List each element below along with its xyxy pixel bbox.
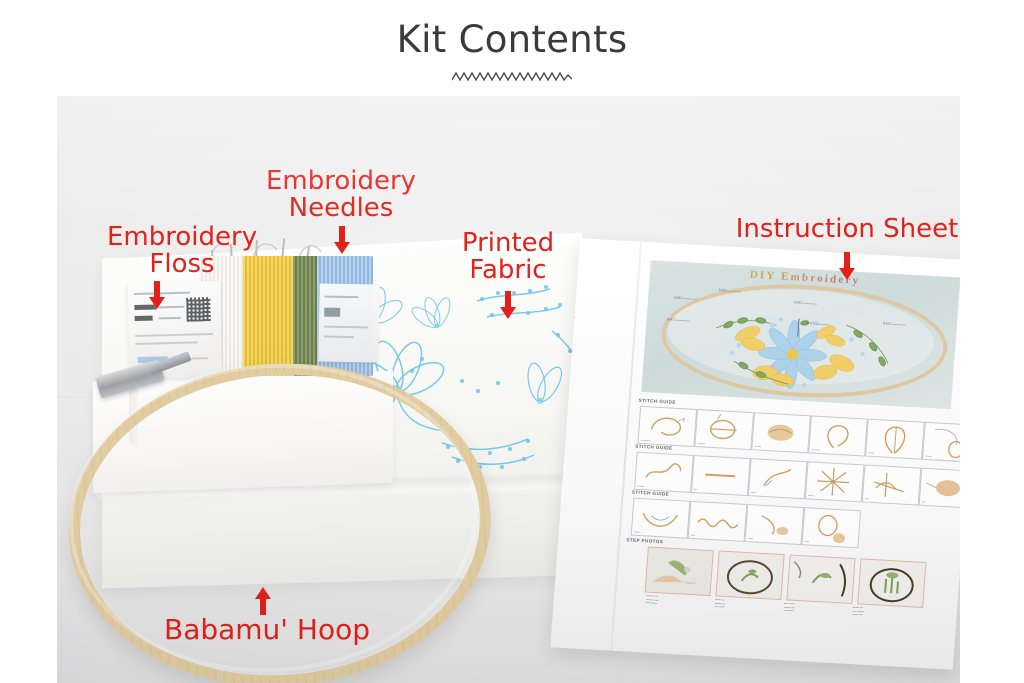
stitch-cell: •••••• — [634, 452, 694, 493]
stitch-caption: •••• — [805, 540, 810, 543]
stitch-cell: •••••• — [751, 412, 811, 453]
step-photo — [857, 558, 926, 608]
stitch-caption: •••• — [691, 534, 696, 537]
stitch-cell: ••••••••• — [637, 406, 697, 447]
stitch-caption: •••• — [865, 498, 870, 501]
step-photo — [715, 550, 784, 600]
sheet-annotation: DMC — [794, 300, 803, 304]
label-line — [159, 317, 181, 320]
stitch-cell: ••••• — [745, 504, 805, 545]
stitch-caption: ••••••••• — [641, 439, 651, 443]
page-header: Kit Contents — [0, 0, 1024, 96]
stitch-cell: ••••• — [748, 458, 808, 499]
zigzag-squiggle-divider-icon — [452, 68, 572, 86]
sheet-annotation: DMC — [674, 296, 683, 300]
sheet-annotation: DMC — [807, 321, 816, 325]
sheet-annotation: DMC — [883, 321, 892, 325]
label-block — [135, 316, 153, 321]
label-line — [135, 341, 197, 345]
sheet-section-label: STITCH GUIDE — [632, 490, 670, 497]
stitch-cell: ••• — [691, 455, 751, 496]
callout-babamu-hoop: Babamu' Hoop — [137, 616, 397, 645]
step-photo-caption: •••••• •••••• •••••••••••• •••• — [852, 606, 915, 620]
stitch-cell: ••• — [919, 468, 960, 509]
sheet-hero-image: DIY Embroidery — [641, 260, 960, 409]
stitch-cell: •••• — [688, 501, 748, 542]
down-arrow-icon — [147, 281, 167, 309]
stitch-caption: •••••• — [925, 455, 932, 458]
stitch-cell: •••• — [801, 507, 861, 548]
stitch-caption: •••••• — [754, 445, 761, 448]
label-block — [324, 308, 340, 317]
callout-printed-fabric: Printed Fabric — [443, 230, 573, 283]
stitch-cell: •••••• — [805, 461, 865, 502]
floss-secondary-label-card — [318, 283, 379, 362]
down-arrow-icon — [332, 226, 352, 254]
step-photo-caption: ••••• •••••••••• ••••• ••••• — [715, 598, 778, 612]
floss-skein-green — [293, 256, 319, 376]
page-title: Kit Contents — [0, 18, 1024, 61]
stitch-cell: ••••••• — [694, 409, 754, 450]
step-photo — [645, 547, 714, 597]
callout-embroidery-floss: Embroidery Floss — [107, 224, 257, 277]
sheet-annotation: DMC — [666, 317, 675, 321]
down-arrow-icon — [837, 252, 857, 280]
stitch-caption: ••••••• — [697, 442, 705, 445]
stitch-cell: •••••••• — [808, 415, 868, 456]
stitch-caption: •••••••• — [811, 449, 820, 452]
stitch-caption: ••• — [922, 501, 926, 504]
stitch-cell: •••••• — [631, 498, 691, 539]
up-arrow-icon — [253, 587, 273, 615]
down-arrow-icon — [498, 291, 518, 319]
barcode-icon — [186, 297, 211, 322]
sheet-section-label: STITCH GUIDE — [638, 398, 676, 405]
stitch-caption: ••••• — [751, 491, 757, 494]
kit-contents-photo: DIY Embroidery — [57, 96, 960, 683]
step-photo-caption: •••• ••••••••••• •••••• ••••••• — [783, 602, 846, 616]
sheet-section-label: STITCH GUIDE — [635, 444, 673, 451]
step-photo-caption: •••••• •••••••••••• ••••••• •••••• — [646, 595, 709, 609]
stitch-cell: •••••• — [922, 422, 960, 463]
stitch-cell: ••••• — [865, 419, 925, 460]
sheet-annotation: DMC — [719, 288, 728, 292]
stitch-cell: •••• — [862, 464, 922, 505]
instruction-sheet: DIY Embroidery — [550, 238, 960, 669]
stitch-caption: ••••• — [748, 537, 754, 540]
sheet-section-label: STEP PHOTOS — [626, 537, 663, 544]
stitch-caption: •••••• — [634, 531, 641, 534]
stitch-caption: ••• — [694, 488, 698, 491]
label-line — [324, 326, 368, 329]
label-line — [324, 296, 358, 299]
step-photo — [786, 554, 855, 604]
stitch-caption: •••••• — [808, 494, 815, 497]
label-line — [135, 333, 213, 337]
stitch-grid-row: •••••• •••• ••••• •••• — [631, 498, 861, 549]
stitch-caption: •••••• — [637, 485, 644, 488]
callout-instruction-sheet: Instruction Sheet — [735, 216, 959, 243]
stitch-caption: ••••• — [868, 452, 874, 455]
label-line — [324, 336, 354, 339]
callout-embroidery-needles: Embroidery Needles — [261, 168, 421, 221]
